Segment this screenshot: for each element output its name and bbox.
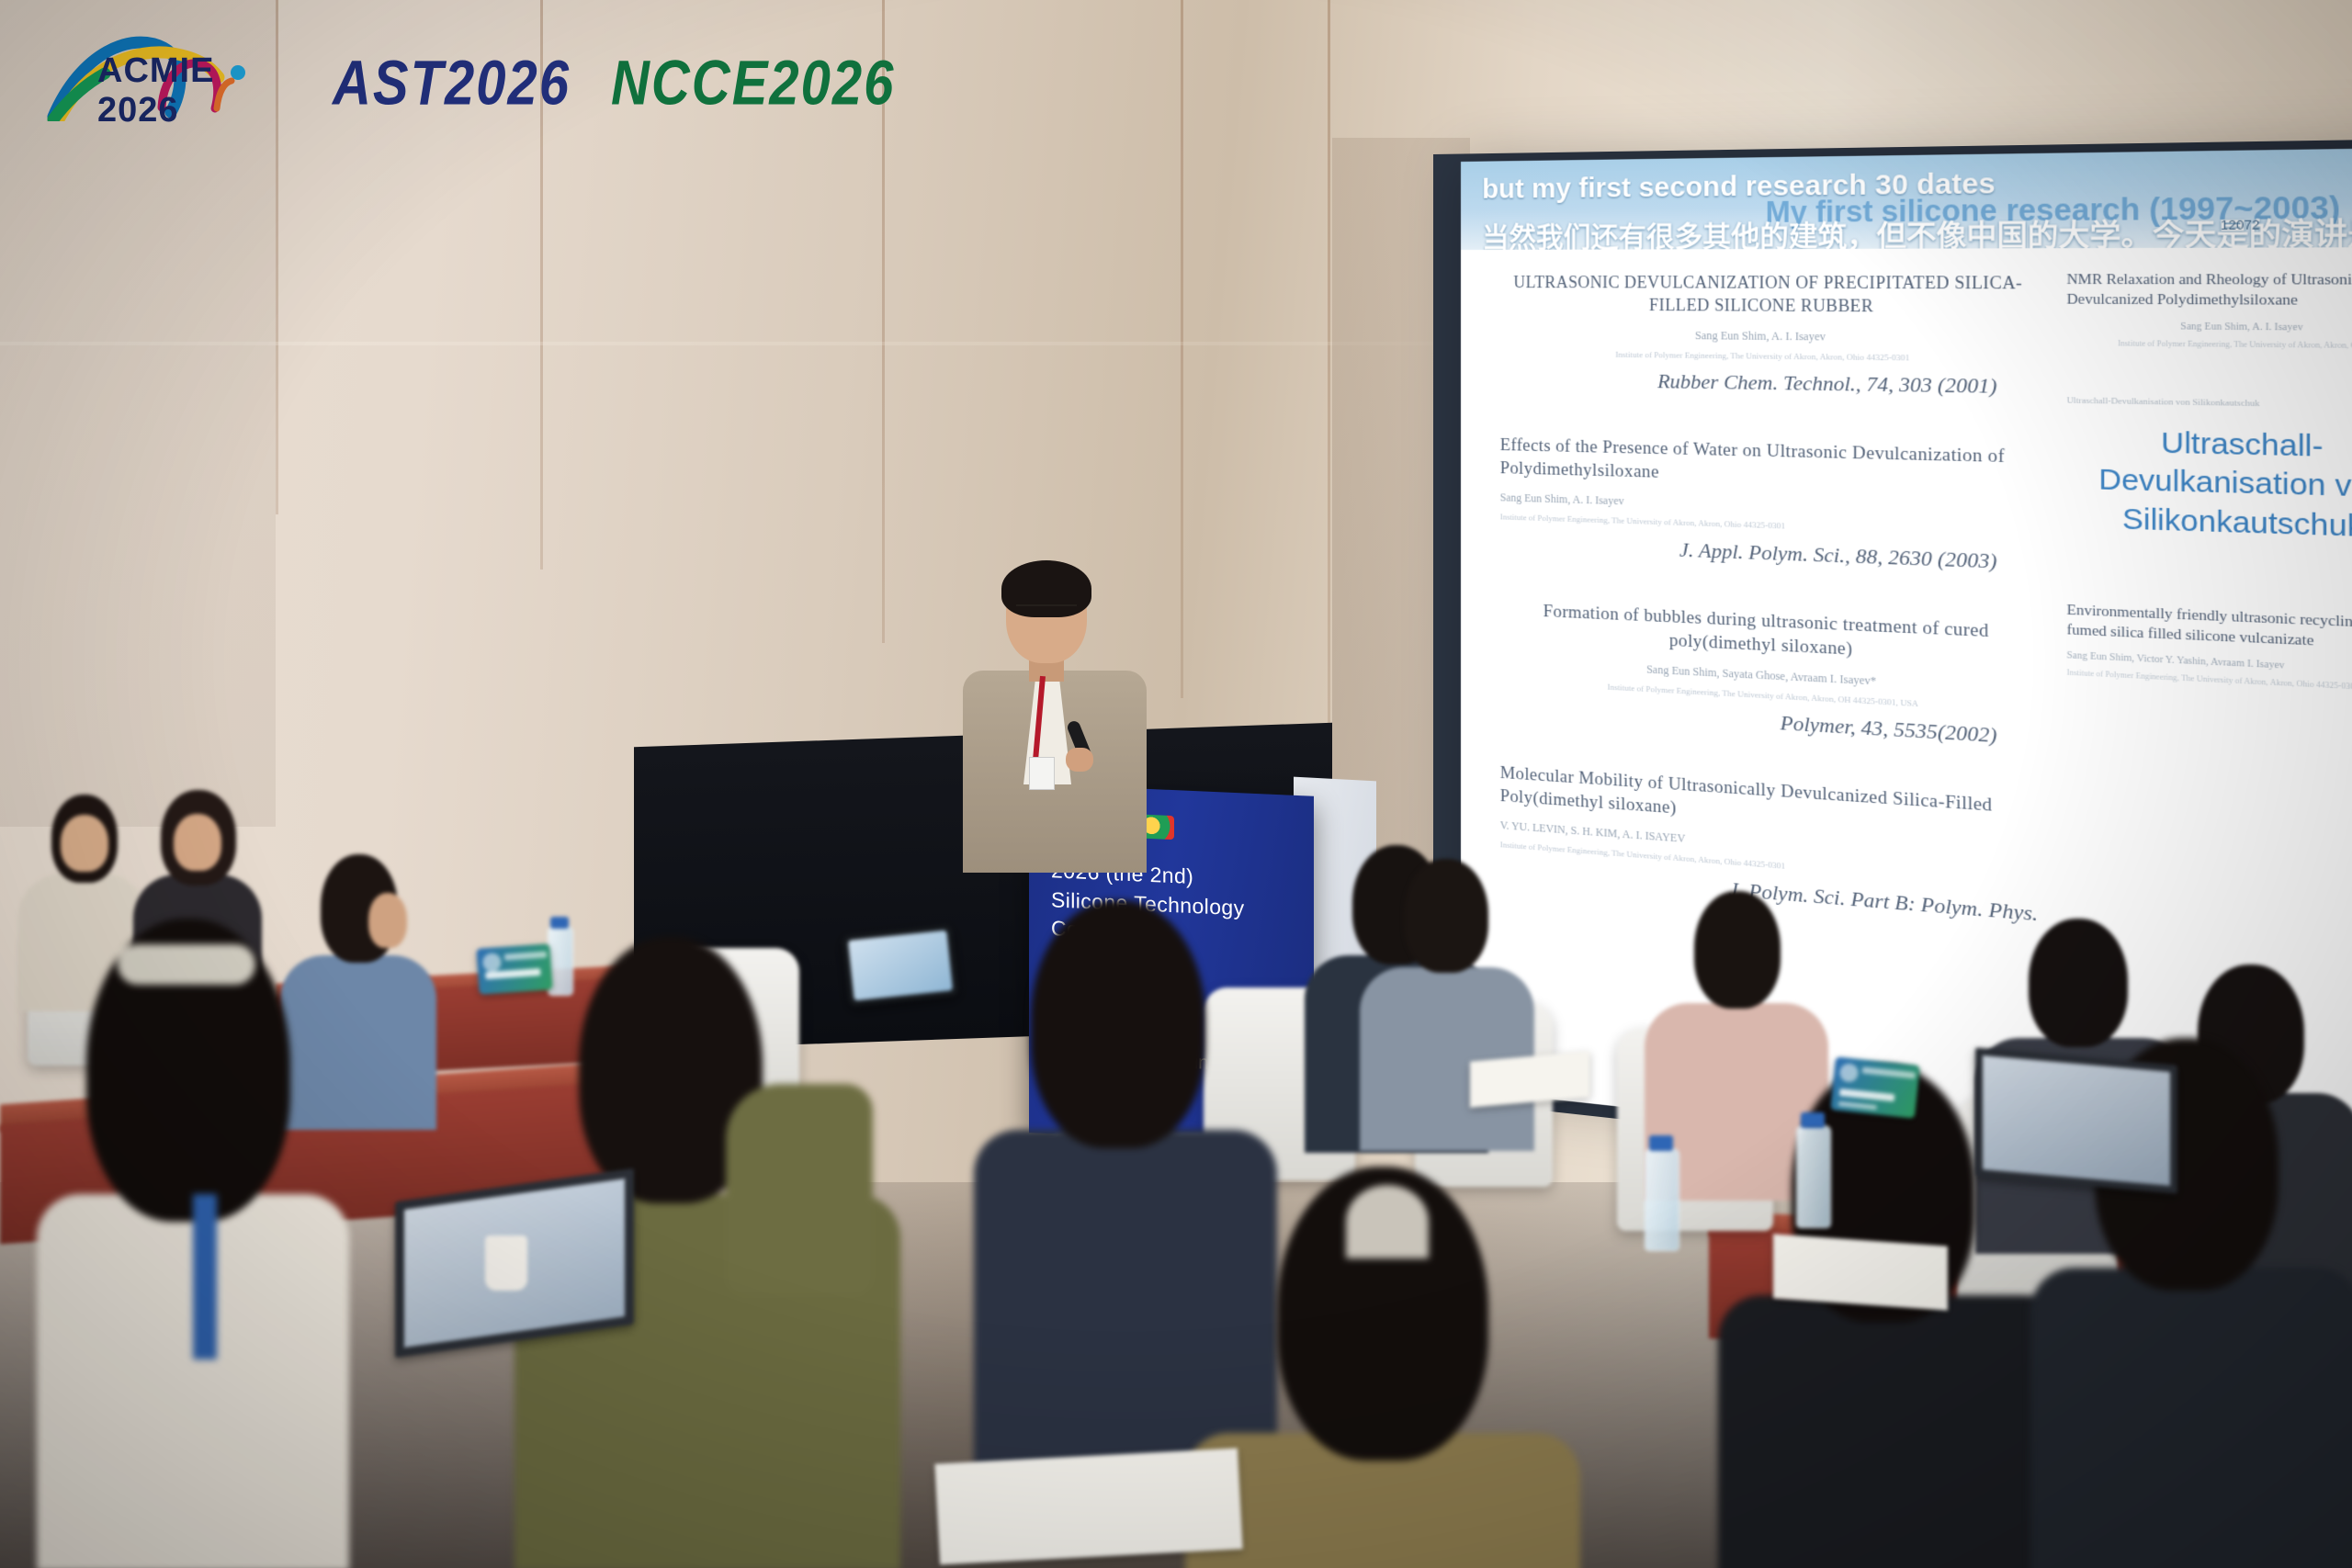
publication-authors: Sang Eun Shim, A. I. Isayev — [2067, 320, 2352, 333]
wordmark-ncce2026: NCCE2026 — [611, 47, 895, 119]
laptop[interactable] — [1975, 1047, 2177, 1193]
publication-entry: Environmentally friendly ultrasonic recy… — [2067, 600, 2352, 697]
phone-screen-preview — [848, 931, 953, 1001]
speaker-presenter — [955, 568, 1153, 871]
badge-org-line — [504, 952, 547, 961]
bottle-cap — [1801, 1112, 1825, 1128]
water-bottle — [1645, 1148, 1679, 1251]
audience-lanyard — [193, 1194, 217, 1359]
german-publication-entry: Ultraschall-Devulkanisation von Silikonk… — [2067, 395, 2352, 548]
publication-citation: Rubber Chem. Technol., 74, 303 (2001) — [1500, 367, 2038, 400]
wall-seam — [1181, 0, 1183, 698]
speaker-badge — [1029, 757, 1055, 790]
headband-accessory — [118, 944, 255, 985]
german-title-line1: Ultraschall-Devulkanisation von — [2067, 423, 2352, 508]
audience-head — [1404, 859, 1488, 973]
audience-face — [61, 815, 108, 872]
publication-affiliation: Institute of Polymer Engineering, The Un… — [1500, 347, 2038, 366]
publication-entry: NMR Relaxation and Rheology of Ultrasoni… — [2067, 270, 2352, 354]
german-title-line2: Silikonkautschuk — [2067, 500, 2352, 548]
audience-face — [174, 814, 221, 871]
publication-authors: Sang Eun Shim, A. I. Isayev — [1500, 327, 2038, 345]
badge-role-line — [1838, 1101, 1877, 1110]
hair-clip-accessory — [1346, 1185, 1429, 1258]
paper-document — [934, 1448, 1242, 1564]
badge-avatar-icon — [1839, 1063, 1860, 1083]
brand-header: ACMIE 2026 AST2026 NCCE2026 — [44, 20, 895, 132]
acmie-logo: ACMIE 2026 — [44, 20, 292, 132]
slide-right-column: NMR Relaxation and Rheology of Ultrasoni… — [2067, 270, 2352, 746]
badge-name-line — [1839, 1089, 1895, 1101]
audience-head — [2029, 919, 2128, 1047]
audience-member-foreground — [37, 919, 349, 1562]
badge-avatar-icon — [482, 953, 502, 972]
water-bottle — [1796, 1125, 1831, 1228]
wordmark-ast2026: AST2026 — [333, 47, 571, 119]
publication-title: Effects of the Presence of Water on Ultr… — [1500, 434, 2038, 495]
publication-entry: ULTRASONIC DEVULCANIZATION OF PRECIPITAT… — [1500, 272, 2038, 400]
audience-head — [1031, 900, 1205, 1148]
name-badge-card — [1830, 1056, 1920, 1118]
audience-head — [1694, 891, 1781, 1009]
publication-entry: Formation of bubbles during ultrasonic t… — [1500, 597, 2038, 750]
laptop-screen — [1983, 1055, 2170, 1186]
publication-title: Environmentally friendly ultrasonic recy… — [2067, 600, 2352, 656]
raised-arm — [726, 1084, 873, 1295]
publication-title: ULTRASONIC DEVULCANIZATION OF PRECIPITAT… — [1500, 272, 2038, 319]
speaker-hand — [1066, 748, 1093, 772]
audience-body — [2030, 1268, 2352, 1568]
badge-org-line — [1862, 1066, 1916, 1078]
coffee-cup — [485, 1235, 527, 1291]
paper-document — [1773, 1234, 1948, 1310]
speaker-glasses-icon — [1016, 604, 1077, 618]
publication-entry: Effects of the Presence of Water on Ultr… — [1500, 434, 2038, 575]
slide-page-number: 12072 — [2221, 217, 2260, 232]
audience-body — [1718, 1295, 2067, 1568]
publication-title: NMR Relaxation and Rheology of Ultrasoni… — [2067, 270, 2352, 312]
audience-member-foreground — [1185, 1167, 1580, 1568]
acmie-logo-wordmark: ACMIE 2026 — [97, 51, 292, 130]
german-subtitle: Ultraschall-Devulkanisation von Silikonk… — [2067, 395, 2352, 411]
slide-left-column: ULTRASONIC DEVULCANIZATION OF PRECIPITAT… — [1500, 272, 2038, 972]
bottle-cap — [550, 917, 569, 929]
conference-photo-scene: ACMIE 2026 AST2026 NCCE2026 but my first… — [0, 0, 2352, 1568]
name-badge-card — [476, 943, 552, 994]
smartphone-camera — [842, 924, 958, 1007]
audience-face — [368, 893, 407, 948]
publication-affiliation: Institute of Polymer Engineering, The Un… — [2067, 337, 2352, 354]
wall-seam — [1328, 0, 1330, 726]
bottle-cap — [1649, 1135, 1673, 1151]
